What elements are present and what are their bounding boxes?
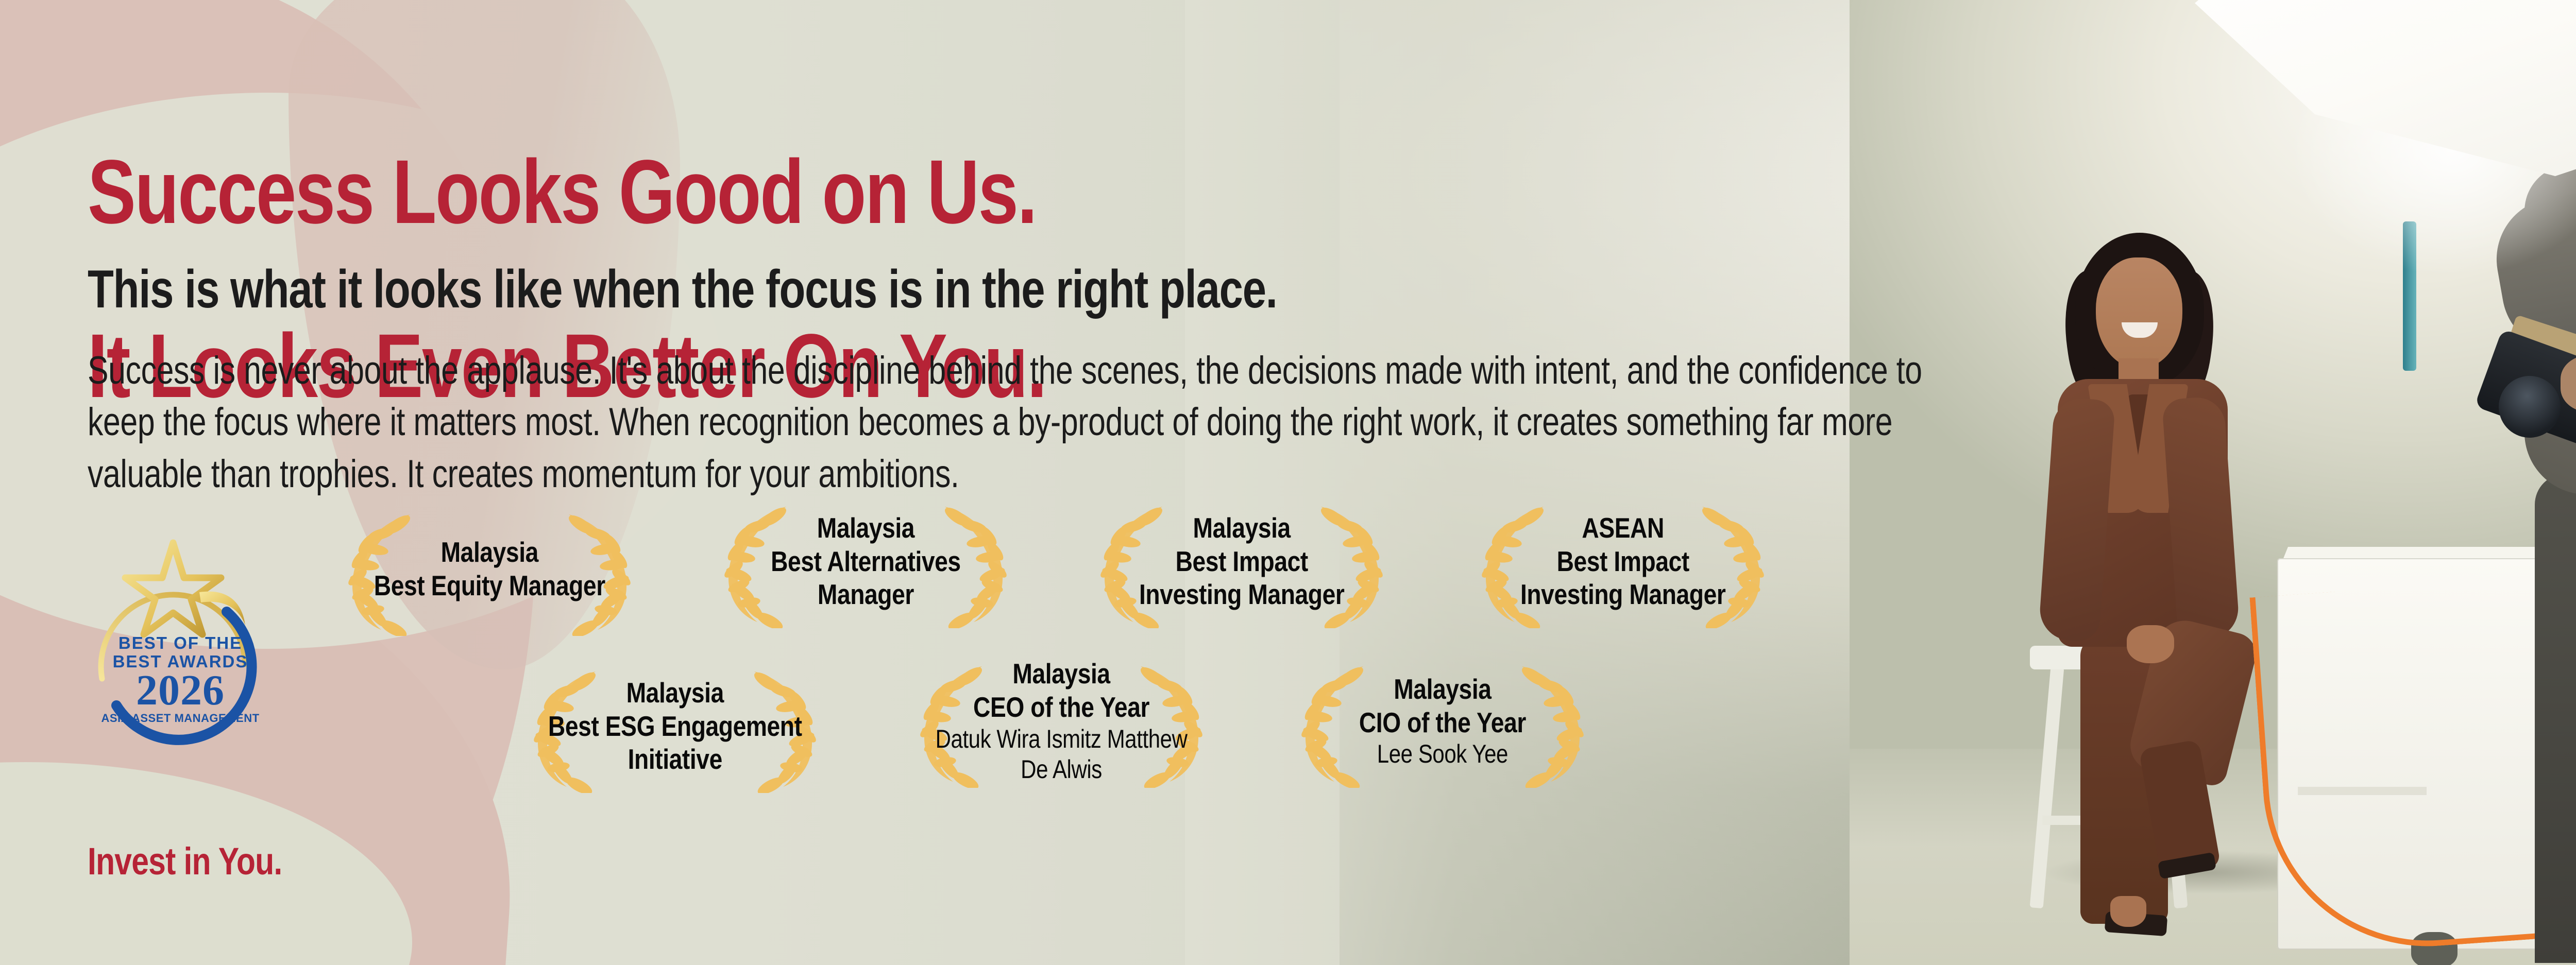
award-recipient: Datuk Wira Ismitz Matthew De Alwis xyxy=(936,724,1188,785)
award-line: Best Impact xyxy=(1520,545,1725,578)
award-item: Malaysia CIO of the Year Lee Sook Yee xyxy=(1262,654,1623,788)
award-line: CIO of the Year xyxy=(1359,706,1526,739)
award-line: Best Equity Manager xyxy=(374,569,605,602)
award-line: Best Alternatives xyxy=(771,545,961,578)
woman-hands xyxy=(2127,625,2174,663)
award-line: Malaysia xyxy=(771,511,961,545)
award-line: Initiative xyxy=(548,743,802,776)
award-item: Malaysia Best Alternatives Manager xyxy=(685,494,1046,628)
award-line: Investing Manager xyxy=(1139,578,1344,611)
woman-foot xyxy=(2110,896,2146,927)
award-line: Manager xyxy=(771,578,961,611)
award-item: Malaysia Best ESG Engagement Initiative xyxy=(495,659,855,793)
award-line: Best ESG Engagement xyxy=(548,710,802,743)
campaign-banner: Success Looks Good on Us. It Looks Even … xyxy=(0,0,2576,965)
award-line: ASEAN xyxy=(1520,511,1725,545)
award-text: Malaysia Best ESG Engagement Initiative xyxy=(548,676,802,777)
award-line: Investing Manager xyxy=(1520,578,1725,611)
award-text: Malaysia Best Alternatives Manager xyxy=(771,511,961,612)
award-line: Malaysia xyxy=(548,676,802,710)
award-line: Malaysia xyxy=(936,657,1188,691)
award-line: CEO of the Year xyxy=(936,691,1188,724)
woman-face xyxy=(2096,257,2182,369)
award-line: Malaysia xyxy=(374,536,605,569)
award-item: Malaysia Best Impact Investing Manager xyxy=(1061,494,1422,628)
award-text: Malaysia CIO of the Year Lee Sook Yee xyxy=(1359,673,1526,770)
award-item: ASEAN Best Impact Investing Manager xyxy=(1443,494,1803,628)
award-text: ASEAN Best Impact Investing Manager xyxy=(1520,511,1725,612)
award-text: Malaysia CEO of the Year Datuk Wira Ismi… xyxy=(936,657,1188,785)
award-line: Best Impact xyxy=(1139,545,1344,578)
award-item: Malaysia CEO of the Year Datuk Wira Ismi… xyxy=(881,654,1242,788)
award-recipient: Lee Sook Yee xyxy=(1359,739,1526,769)
award-item: Malaysia Best Equity Manager xyxy=(309,502,670,636)
banner-content: Success Looks Good on Us. It Looks Even … xyxy=(0,0,2009,965)
photographer-trousers xyxy=(2535,474,2576,963)
awards-list: Malaysia Best Equity Manager xyxy=(0,0,2009,965)
award-text: Malaysia Best Impact Investing Manager xyxy=(1139,511,1344,612)
award-line: Malaysia xyxy=(1139,511,1344,545)
award-text: Malaysia Best Equity Manager xyxy=(374,536,605,602)
award-line: Malaysia xyxy=(1359,673,1526,706)
